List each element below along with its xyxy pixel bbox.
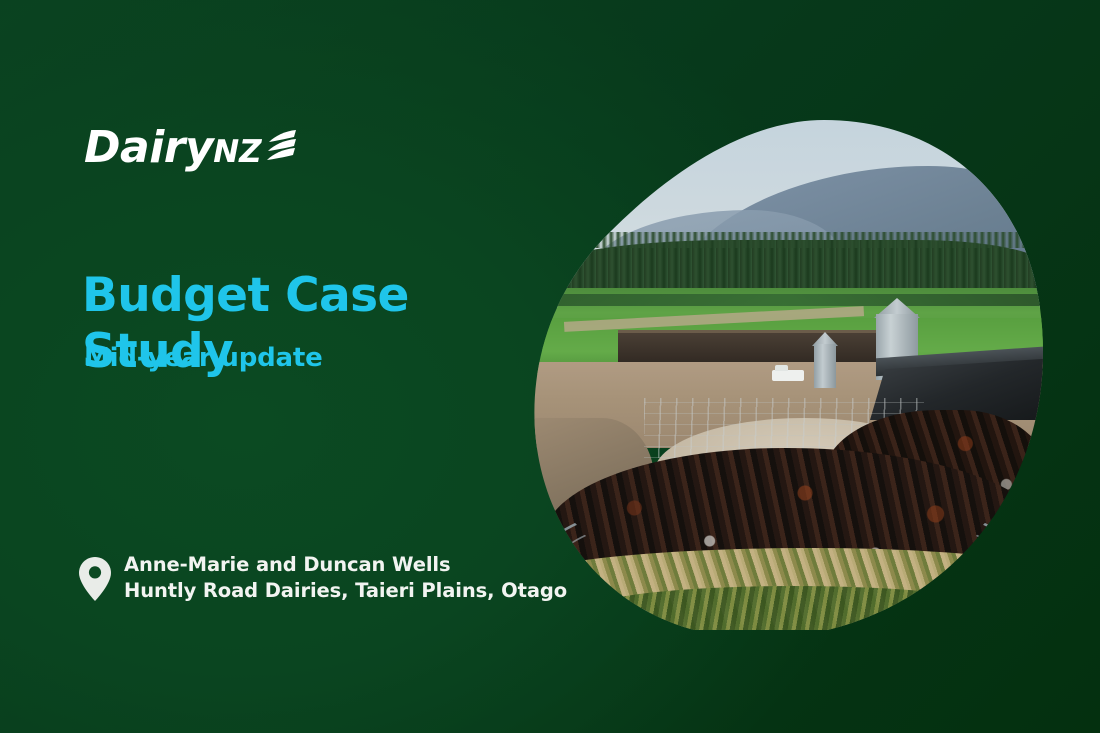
logo-word-nz: NZ [213,134,261,170]
photo-silo-small [814,344,836,388]
logo-word-dairy: Dairy [84,122,213,173]
photo-white-ute [772,370,804,381]
dairynz-wordmark: DairyNZ [84,126,262,174]
dairynz-logo[interactable]: DairyNZ [84,126,299,182]
dairynz-swoosh-icon [265,128,299,171]
photo-poplar-shelterbelt [524,240,1046,294]
slide-subtitle: Mid-year update [84,342,323,374]
location-line-1: Anne-Marie and Duncan Wells [124,552,567,578]
left-content-column: DairyNZ Budget Case Study Mid-year updat… [0,0,540,733]
farm-photo-illustration [524,118,1046,630]
photo-tussock-foreground-lower [584,586,1004,630]
location-line-2: Huntly Road Dairies, Taieri Plains, Otag… [124,578,567,604]
farm-photo [524,118,1046,630]
photo-hedgerow [524,294,1046,306]
slide-canvas: DairyNZ Budget Case Study Mid-year updat… [0,0,1100,733]
location-text: Anne-Marie and Duncan Wells Huntly Road … [124,552,567,604]
location-block: Anne-Marie and Duncan Wells Huntly Road … [78,552,567,604]
map-pin-icon [78,556,112,602]
